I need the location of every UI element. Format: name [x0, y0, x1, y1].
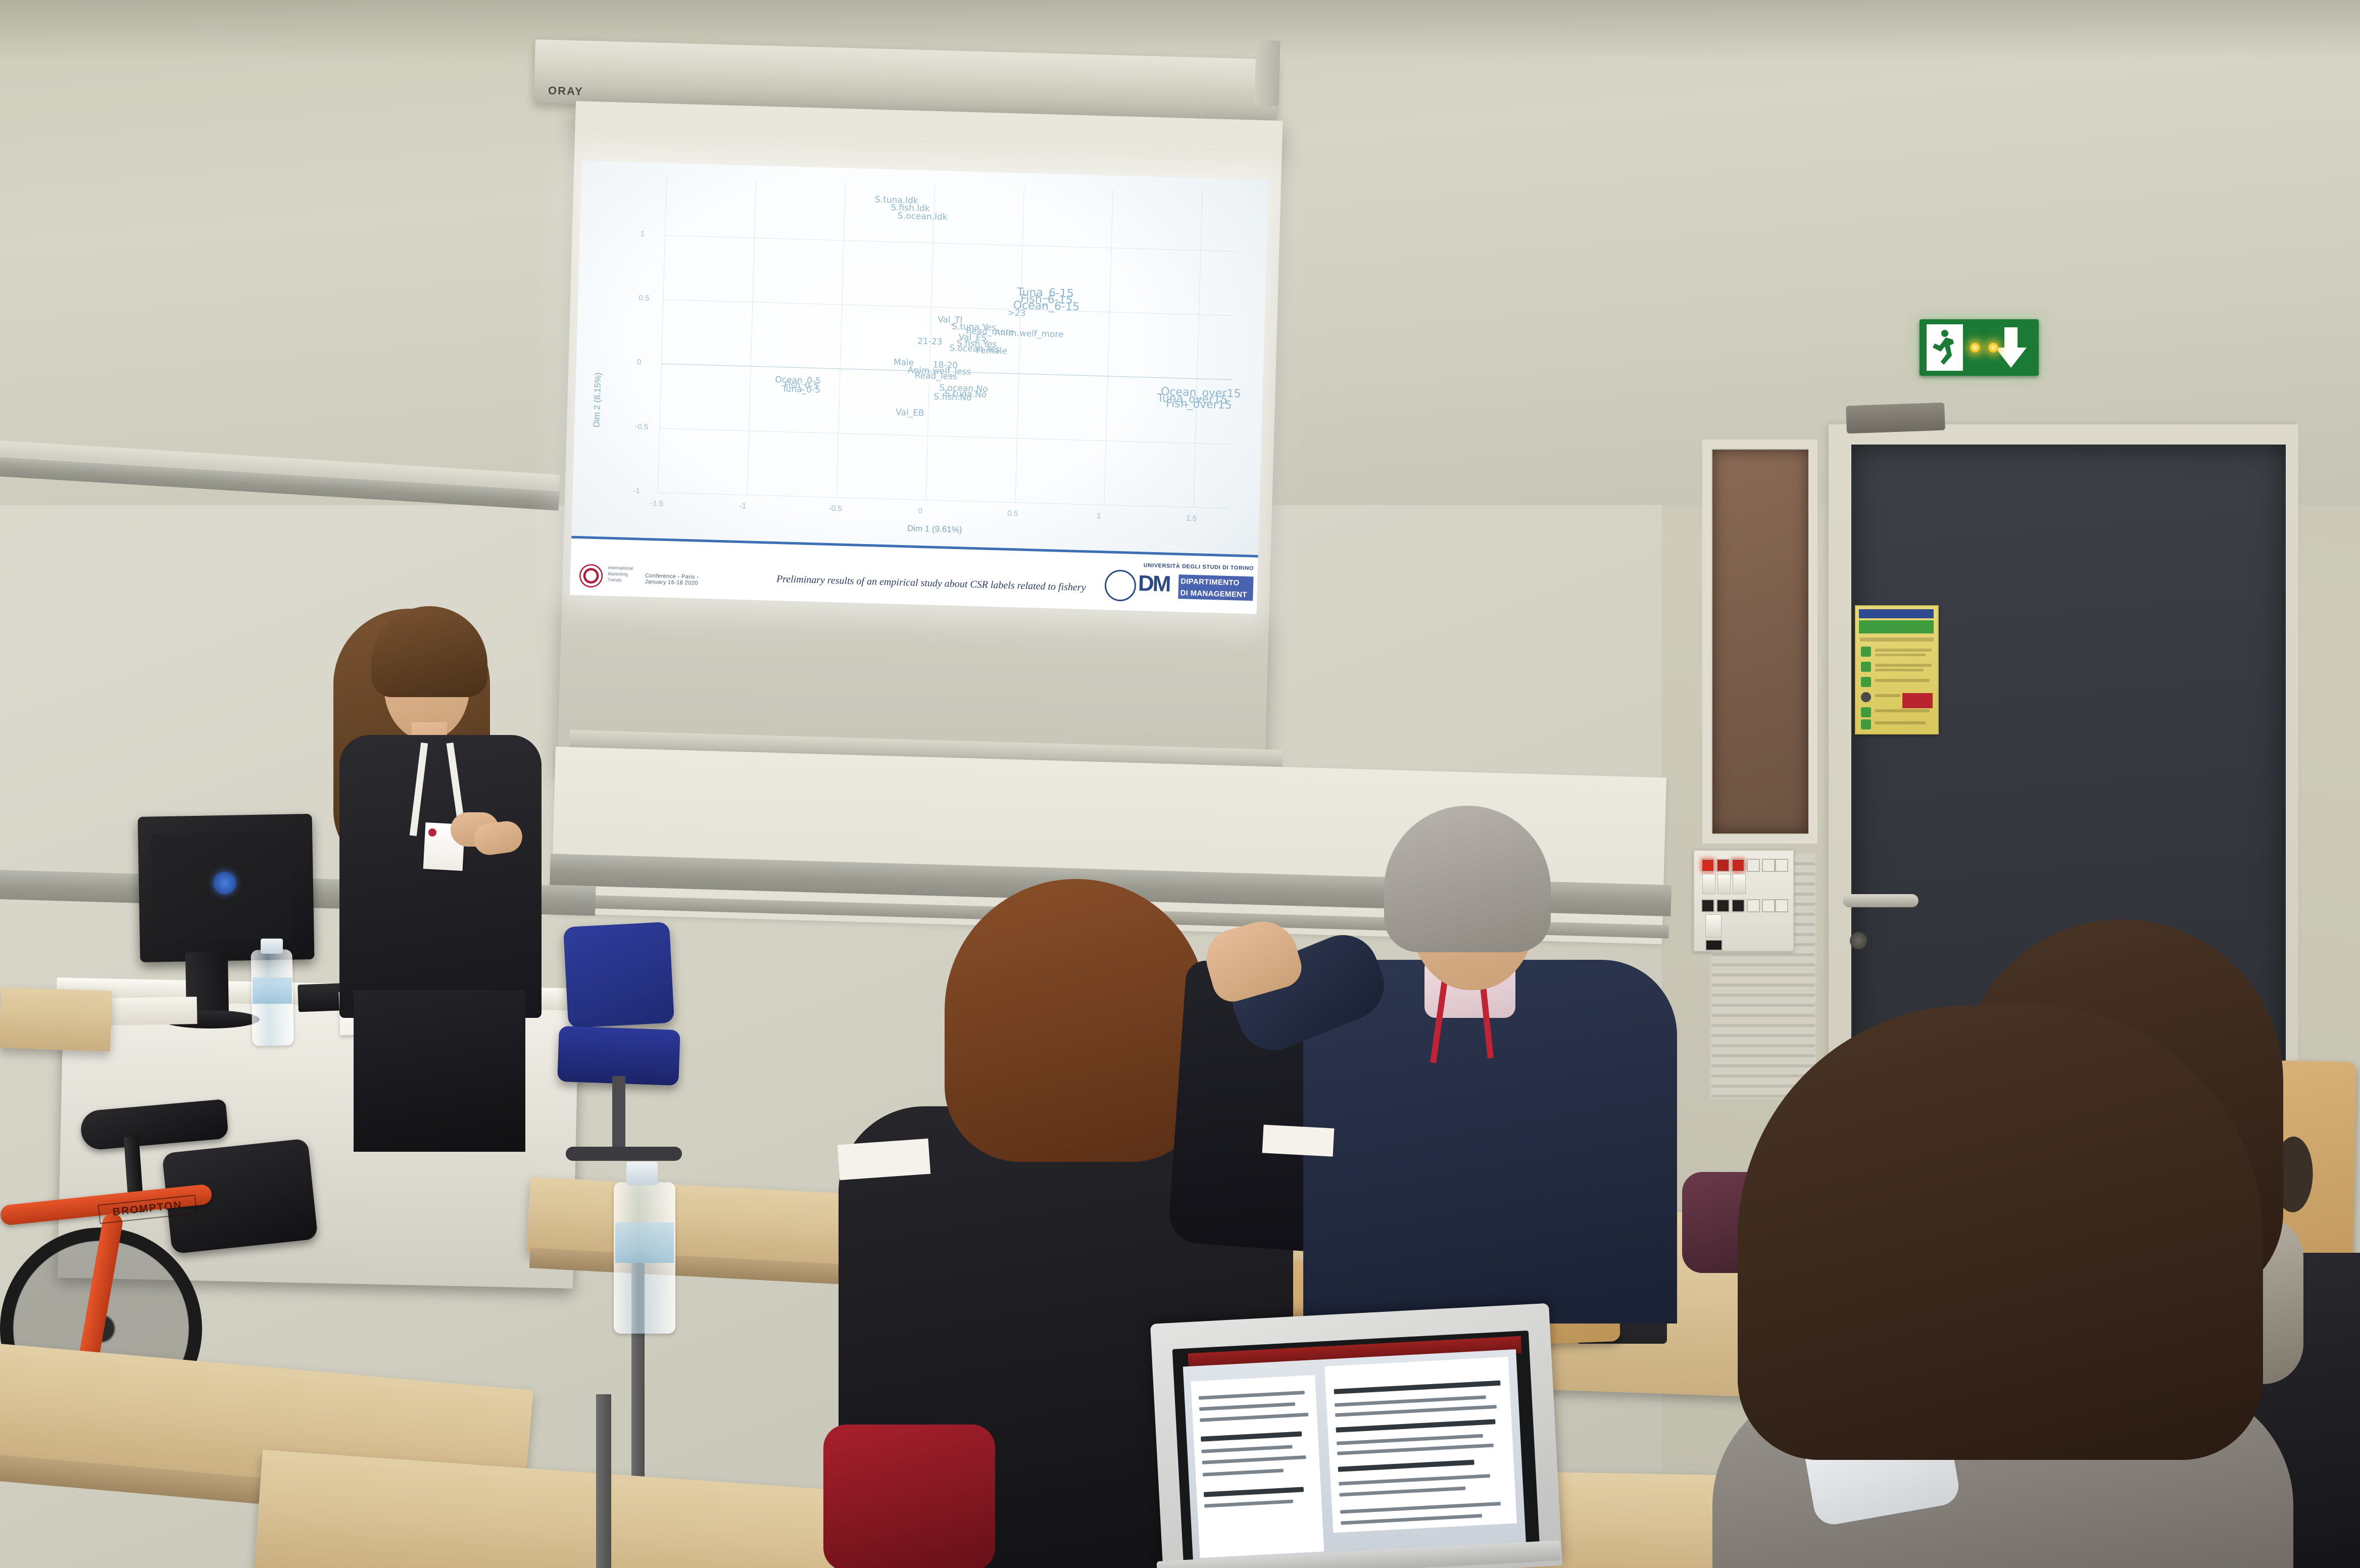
mca-scatter-plot: -1.5-1-0.500.511.5-1-0.500.51S.tuna.IdkS…: [571, 161, 1268, 558]
scatter-point-label: S.ocean.Idk: [898, 211, 948, 222]
grid-line-vertical: [836, 182, 845, 498]
blue-chair-stem: [612, 1076, 625, 1157]
ceiling-shadow: [0, 0, 2360, 61]
scatter-point-label: Anim.welf_more: [994, 328, 1063, 340]
x-axis-tick-label: 0: [918, 507, 922, 515]
papers-table-right: [1262, 1124, 1335, 1156]
scatter-point-label: >23: [1007, 308, 1025, 318]
blue-chair-base: [566, 1147, 682, 1161]
water-bottle-label: [253, 977, 292, 1004]
dm-monogram: DM: [1138, 572, 1170, 596]
grid-line-horizontal: [665, 235, 1237, 252]
x-axis-tick-label: 0.5: [1007, 509, 1018, 518]
emergency-exit-sign: [1920, 319, 2039, 376]
blue-chair-back[interactable]: [563, 922, 674, 1028]
door-closer-arm: [1846, 403, 1945, 434]
grid-line-vertical: [1015, 187, 1024, 502]
grid-line-horizontal: [663, 300, 1235, 316]
water-bottle-cap: [261, 939, 283, 954]
papers-table: [838, 1139, 930, 1180]
lighting-control-panel[interactable]: [1693, 850, 1794, 952]
presenter-badge-logo-icon: [428, 828, 436, 837]
y-axis-tick-label: 0.5: [638, 293, 649, 303]
x-axis-tick-label: -1: [740, 502, 747, 510]
grid-line-vertical: [747, 180, 756, 495]
department-line2: DI MANAGEMENT: [1180, 587, 1251, 601]
laptop-document-window: [1183, 1349, 1527, 1568]
university-seal-icon: [1104, 569, 1137, 602]
y-axis-tick-label: -1: [633, 486, 641, 495]
grid-line-vertical: [1194, 192, 1203, 507]
water-bottle-table-label: [615, 1222, 674, 1263]
presenter-blazer: [339, 735, 542, 1018]
x-axis-title: Dim 1 (9.61%): [907, 523, 962, 535]
running-man-icon: [1930, 328, 1958, 367]
notice-emergency-number: [1902, 693, 1933, 708]
presenter-skirt: [354, 990, 525, 1152]
table-leg-2: [596, 1394, 611, 1568]
grid-line-vertical: [1104, 189, 1113, 505]
scatter-point-label: Female: [976, 346, 1007, 357]
conference-gear-icon: [579, 564, 603, 587]
table-far-left: [0, 987, 112, 1052]
oray-brand-label: ORAY: [548, 84, 604, 100]
attendee-1-hair: [945, 879, 1207, 1162]
projector-screen-housing-cap: [1254, 40, 1280, 106]
scatter-point-label: Read_less: [914, 371, 957, 382]
department-block: DIPARTIMENTO DI MANAGEMENT: [1178, 574, 1253, 601]
y-axis-tick-label: -0.5: [635, 422, 648, 431]
attendee-3-hair: [1738, 1005, 2263, 1460]
water-bottle-table-cap: [626, 1162, 658, 1185]
slide-footer-text: Preliminary results of an empirical stud…: [776, 573, 1086, 594]
monitor-brand-logo-icon: [214, 872, 236, 894]
presentation-slide: -1.5-1-0.500.511.5-1-0.500.51S.tuna.IdkS…: [570, 161, 1268, 614]
conference-event-line: Conference - Paris - January 16-18 2020: [645, 573, 716, 587]
x-axis-tick-label: 1.5: [1186, 514, 1197, 523]
x-axis-tick-label: -1.5: [650, 499, 663, 508]
window-frame: [1702, 439, 1817, 844]
red-bag: [823, 1425, 995, 1568]
x-axis-tick-label: -0.5: [828, 504, 842, 513]
scatter-point-label: Fish_over15: [1166, 397, 1232, 412]
university-logo: UNIVERSITÀ DEGLI STUDI DI TORINO DM DIPA…: [1102, 560, 1255, 611]
x-axis-tick-label: 1: [1097, 512, 1101, 520]
conference-room-scene: ORAY -1.5-1-0.500.511.5-1-0.500.51S.tuna…: [0, 0, 2360, 1568]
door-safety-notice: [1855, 605, 1939, 734]
door-handle[interactable]: [1843, 894, 1919, 907]
grid-line-vertical: [658, 177, 667, 493]
scatter-point-label: Tuna_0-5: [782, 384, 821, 395]
scatter-point-label: Val_EB: [896, 408, 924, 419]
conference-logo: International Marketing Trends Conferenc…: [579, 561, 716, 594]
conference-logo-line3: Trends: [608, 577, 633, 584]
y-axis-tick-label: 0: [637, 358, 642, 366]
university-name: UNIVERSITÀ DEGLI STUDI DI TORINO: [1144, 562, 1254, 571]
conference-logo-lines: International Marketing Trends: [608, 565, 633, 584]
door-lock-icon[interactable]: [1850, 932, 1867, 949]
grid-line-horizontal: [659, 428, 1231, 445]
scatter-point-label: 21-23: [917, 336, 943, 347]
y-axis-tick-label: 1: [641, 229, 645, 238]
y-axis-title: Dim 2 (8.15%): [592, 372, 603, 427]
scatter-point-label: S.fish.No: [933, 392, 972, 403]
